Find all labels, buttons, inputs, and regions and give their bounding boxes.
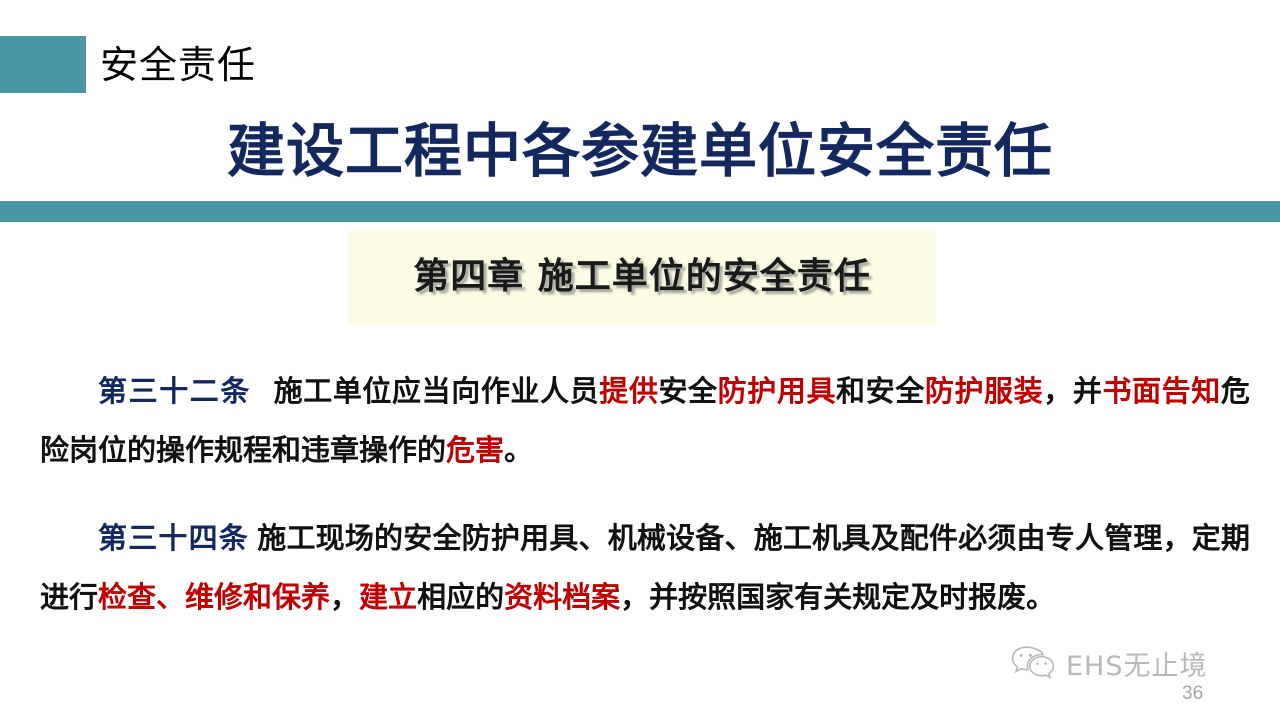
body-text: 相应的 bbox=[417, 580, 504, 614]
paragraph-article-32: 第三十二条施工单位应当向作业人员提供安全防护用具和安全防护服装，并书面告知危险岗… bbox=[40, 362, 1250, 480]
page-title: 建设工程中各参建单位安全责任 bbox=[0, 104, 1280, 188]
body-text: 安全 bbox=[658, 374, 717, 408]
paragraph-article-34: 第三十四条施工现场的安全防护用具、机械设备、施工机具及配件必须由专人管理，定期进… bbox=[40, 509, 1250, 627]
highlighted-term: 建立 bbox=[359, 580, 417, 614]
highlighted-term: 防护用具 bbox=[718, 374, 836, 408]
highlighted-term: 防护服装 bbox=[925, 374, 1043, 408]
slide-kicker: 安全责任 bbox=[100, 36, 520, 94]
body-text: ，并按照国家有关规定及时报废。 bbox=[620, 580, 1055, 614]
article-number: 第三十二条 bbox=[98, 374, 251, 408]
highlighted-term: 检查、维修和保养 bbox=[98, 580, 330, 614]
highlighted-term: 危害 bbox=[446, 433, 504, 467]
body-text: 和安全 bbox=[836, 374, 925, 408]
page-number: 36 bbox=[1182, 683, 1203, 705]
body-text: 。 bbox=[504, 433, 533, 467]
wechat-icon bbox=[1010, 644, 1056, 682]
slide: 安全责任 建设工程中各参建单位安全责任 第四章 施工单位的安全责任 第三十二条施… bbox=[0, 0, 1280, 720]
body-text: 施工单位应当向作业人员 bbox=[273, 374, 599, 408]
body-text: ， bbox=[330, 580, 359, 614]
article-number: 第三十四条 bbox=[98, 521, 249, 555]
accent-square-icon bbox=[0, 36, 86, 93]
highlighted-term: 书面告知 bbox=[1102, 374, 1220, 408]
highlighted-term: 资料档案 bbox=[504, 580, 620, 614]
header-divider bbox=[0, 201, 1280, 222]
watermark: EHS无止境 bbox=[1010, 640, 1260, 686]
chapter-banner-label: 第四章 施工单位的安全责任 bbox=[348, 247, 936, 299]
highlighted-term: 提供 bbox=[599, 374, 658, 408]
body-text: ，并 bbox=[1043, 374, 1102, 408]
body-content: 第三十二条施工单位应当向作业人员提供安全防护用具和安全防护服装，并书面告知危险岗… bbox=[40, 333, 1250, 656]
watermark-label: EHS无止境 bbox=[1066, 644, 1208, 683]
